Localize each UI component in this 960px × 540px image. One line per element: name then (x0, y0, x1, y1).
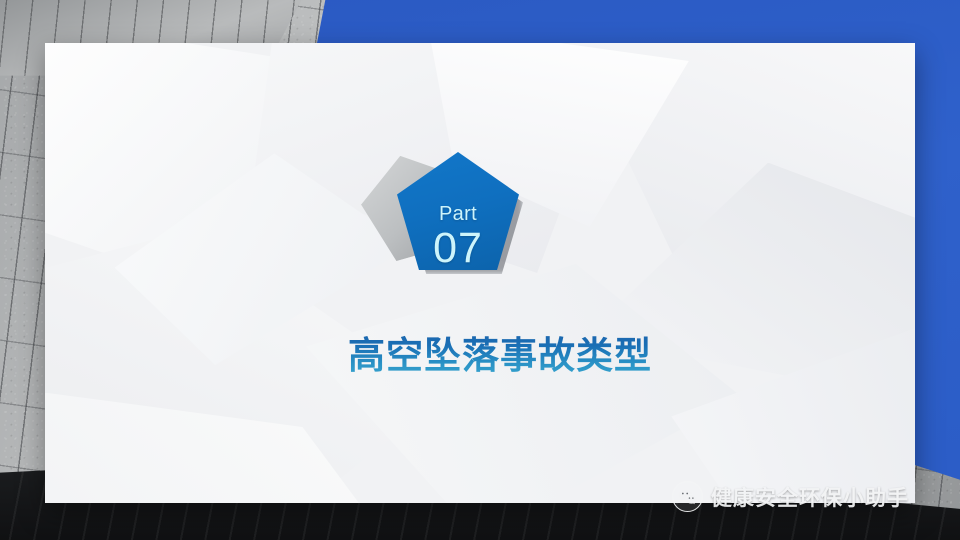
polygon-facet (671, 328, 915, 503)
section-title: 高空坠落事故类型 (348, 325, 652, 379)
polygon-facet (45, 393, 393, 503)
polygon-facet (550, 43, 915, 319)
section-badge: Part 07 (355, 110, 535, 310)
badge-part-number: 07 (397, 227, 519, 270)
presentation-slide: Part 07 高空坠落事故类型 健康安全环保小助手 (0, 0, 960, 540)
badge-part-label: Part (397, 203, 519, 226)
